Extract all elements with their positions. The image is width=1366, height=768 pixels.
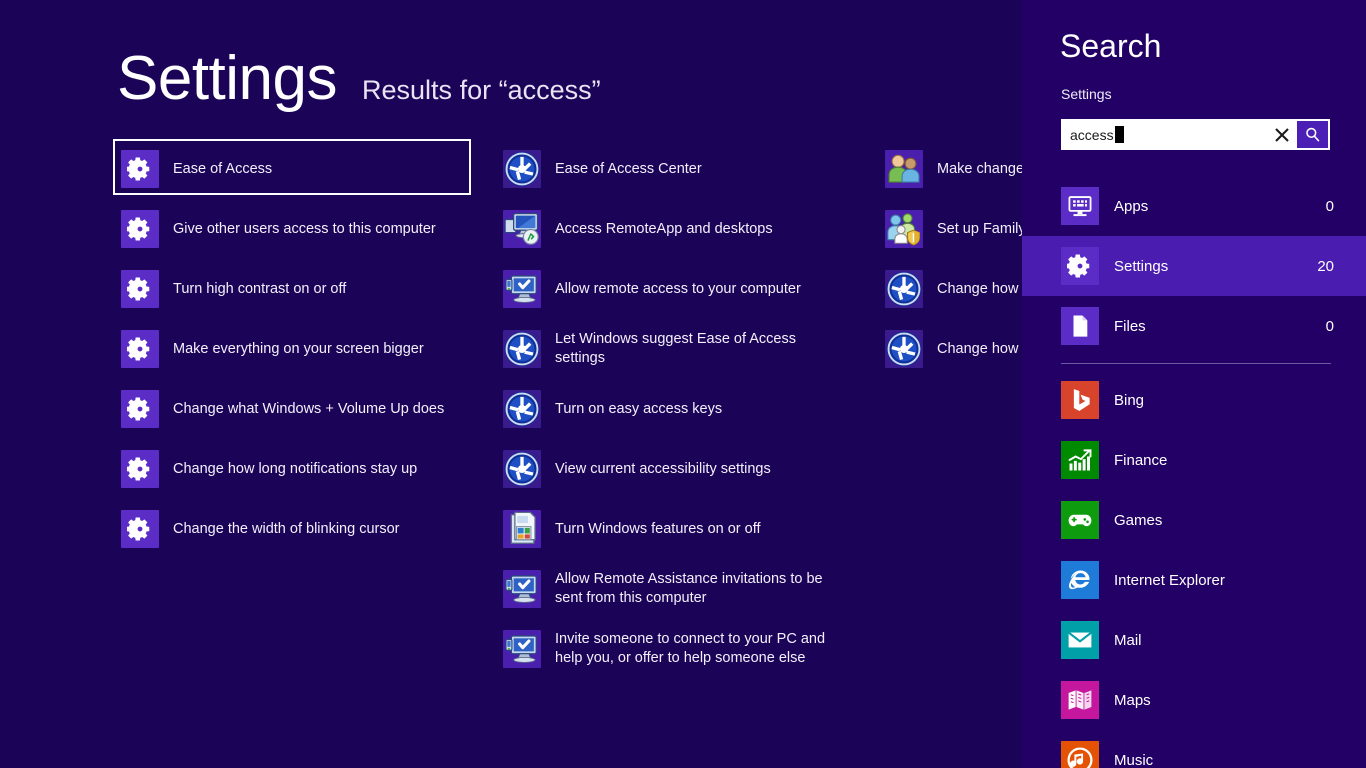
app-label: Mail (1114, 632, 1142, 649)
result-item[interactable]: View current accessibility settings (495, 439, 875, 499)
result-item-label: Let Windows suggest Ease of Access setti… (555, 330, 796, 368)
ease-of-access-wheel-icon (503, 390, 541, 428)
music-note-icon (1061, 741, 1099, 768)
settings-gear-icon (121, 270, 159, 308)
music-note-icon (1066, 746, 1094, 768)
family-safety-icon (885, 210, 923, 248)
file-document-icon (1067, 313, 1093, 339)
category-label: Settings (1114, 258, 1317, 275)
remote-desktop-icon (503, 570, 541, 608)
envelope-icon (1061, 621, 1099, 659)
category-label: Files (1114, 318, 1326, 335)
app-label: Games (1114, 512, 1162, 529)
bing-icon (1066, 386, 1094, 414)
settings-gear-icon (121, 330, 159, 368)
settings-gear-icon (121, 450, 159, 488)
app-label: Bing (1114, 392, 1144, 409)
settings-gear-icon (121, 390, 159, 428)
panel-divider (1061, 363, 1331, 364)
results-column-2: Ease of Access CenterAccess RemoteApp an… (495, 139, 875, 679)
result-item[interactable]: Ease of Access (113, 139, 493, 199)
ease-of-access-wheel-icon (885, 270, 923, 308)
result-item-label: Set up Family (937, 220, 1022, 239)
app-list-item[interactable]: Finance (1022, 430, 1366, 490)
remote-desktop-icon (503, 630, 541, 668)
result-item-label: Change how y (937, 340, 1022, 359)
bing-icon (1061, 381, 1099, 419)
settings-gear-icon (127, 156, 153, 182)
app-label: Internet Explorer (1114, 572, 1225, 589)
family-safety-icon (885, 210, 923, 248)
finance-chart-icon (1061, 441, 1099, 479)
search-panel-title: Search (1060, 30, 1161, 62)
result-item-label: View current accessibility settings (555, 460, 771, 479)
result-item[interactable]: Set up Family (877, 199, 1022, 259)
app-list-item[interactable]: Maps (1022, 670, 1366, 730)
search-input[interactable]: access (1061, 126, 1267, 143)
search-charm-panel: Search Settings access Apps0Settings20Fi… (1022, 0, 1366, 768)
results-column-3: Make changesSet up FamilyChange how yCha… (877, 139, 1022, 379)
result-item-label: Change how long notifications stay up (173, 460, 417, 479)
app-list-item[interactable]: Bing (1022, 370, 1366, 430)
search-results-area: Settings Results for “access” Ease of Ac… (0, 0, 1022, 768)
search-category-files[interactable]: Files0 (1022, 296, 1366, 356)
user-accounts-icon (885, 150, 923, 188)
remote-desktop-icon (503, 570, 541, 608)
result-item[interactable]: Allow Remote Assistance invitations to b… (495, 559, 875, 619)
settings-gear-icon (127, 336, 153, 362)
search-category-apps[interactable]: Apps0 (1022, 176, 1366, 236)
result-item[interactable]: Turn on easy access keys (495, 379, 875, 439)
search-input-value: access (1070, 127, 1114, 143)
ease-of-access-wheel-icon (503, 450, 541, 488)
settings-gear-icon (127, 516, 153, 542)
result-item[interactable]: Turn high contrast on or off (113, 259, 493, 319)
result-item[interactable]: Change what Windows + Volume Up does (113, 379, 493, 439)
settings-gear-icon (127, 216, 153, 242)
result-item[interactable]: Change the width of blinking cursor (113, 499, 493, 559)
result-item[interactable]: Change how y (877, 319, 1022, 379)
envelope-icon (1066, 626, 1094, 654)
remote-desktop-icon (503, 630, 541, 668)
settings-gear-icon (127, 456, 153, 482)
search-submit-button[interactable] (1297, 121, 1328, 148)
app-list-item[interactable]: Games (1022, 490, 1366, 550)
windows-features-icon (503, 510, 541, 548)
text-caret (1115, 126, 1124, 143)
app-label: Finance (1114, 452, 1167, 469)
windows-features-icon (503, 510, 541, 548)
result-item-label: Allow remote access to your computer (555, 280, 801, 299)
result-item[interactable]: Access RemoteApp and desktops (495, 199, 875, 259)
result-item-label: Make changes (937, 160, 1022, 179)
result-item[interactable]: Change how y (877, 259, 1022, 319)
result-item[interactable]: Allow remote access to your computer (495, 259, 875, 319)
result-item-label: Allow Remote Assistance invitations to b… (555, 570, 823, 608)
file-document-icon (1061, 307, 1099, 345)
settings-gear-icon (127, 276, 153, 302)
magnifier-icon (1304, 126, 1321, 143)
result-item-label: Turn on easy access keys (555, 400, 722, 419)
gamepad-icon (1066, 506, 1094, 534)
remote-desktop-icon (503, 270, 541, 308)
ease-of-access-wheel-icon (503, 150, 541, 188)
result-item-label: Change how y (937, 280, 1022, 299)
app-list-item[interactable]: Internet Explorer (1022, 550, 1366, 610)
result-item-label: Ease of Access (173, 160, 272, 179)
search-category-list: Apps0Settings20Files0 (1022, 176, 1366, 356)
results-header: Settings Results for “access” (117, 48, 601, 110)
ease-of-access-wheel-icon (503, 330, 541, 368)
result-item-label: Change what Windows + Volume Up does (173, 400, 444, 419)
app-label: Maps (1114, 692, 1151, 709)
ease-of-access-wheel-icon (885, 270, 923, 308)
ease-of-access-wheel-icon (503, 390, 541, 428)
settings-gear-icon (127, 396, 153, 422)
result-item-label: Ease of Access Center (555, 160, 702, 179)
apps-monitor-icon (1061, 187, 1099, 225)
user-accounts-icon (885, 150, 923, 188)
result-item-label: Access RemoteApp and desktops (555, 220, 773, 239)
app-list-item[interactable]: Mail (1022, 610, 1366, 670)
internet-explorer-icon (1066, 566, 1094, 594)
ease-of-access-wheel-icon (885, 330, 923, 368)
result-item-label: Make everything on your screen bigger (173, 340, 424, 359)
result-item[interactable]: Change how long notifications stay up (113, 439, 493, 499)
category-label: Apps (1114, 198, 1326, 215)
ease-of-access-wheel-icon (503, 150, 541, 188)
settings-gear-icon (121, 510, 159, 548)
close-x-icon[interactable] (1267, 119, 1297, 150)
result-item[interactable]: Make changes (877, 139, 1022, 199)
results-column-1: Ease of AccessGive other users access to… (113, 139, 493, 559)
result-item-label: Give other users access to this computer (173, 220, 436, 239)
remote-desktop-icon (503, 270, 541, 308)
app-label: Music (1114, 752, 1153, 768)
internet-explorer-icon (1061, 561, 1099, 599)
category-count: 0 (1326, 318, 1334, 335)
ease-of-access-wheel-icon (503, 450, 541, 488)
map-fold-icon (1061, 681, 1099, 719)
ease-of-access-wheel-icon (503, 330, 541, 368)
map-fold-icon (1066, 686, 1094, 714)
search-scope-label: Settings (1061, 86, 1112, 102)
finance-chart-icon (1066, 446, 1094, 474)
app-list-item[interactable]: Music (1022, 730, 1366, 768)
result-item[interactable]: Let Windows suggest Ease of Access setti… (495, 319, 875, 379)
result-item[interactable]: Make everything on your screen bigger (113, 319, 493, 379)
result-item-label: Turn high contrast on or off (173, 280, 346, 299)
ease-of-access-wheel-icon (885, 330, 923, 368)
gamepad-icon (1061, 501, 1099, 539)
category-count: 0 (1326, 198, 1334, 215)
result-item-label: Change the width of blinking cursor (173, 520, 400, 539)
page-title: Settings (117, 48, 337, 110)
category-count: 20 (1317, 258, 1334, 275)
result-item[interactable]: Turn Windows features on or off (495, 499, 875, 559)
result-item-label: Invite someone to connect to your PC and… (555, 630, 825, 668)
remoteapp-icon (503, 210, 541, 248)
search-box[interactable]: access (1061, 119, 1330, 150)
settings-gear-icon (121, 210, 159, 248)
search-category-settings[interactable]: Settings20 (1022, 236, 1366, 296)
settings-gear-icon (121, 150, 159, 188)
apps-monitor-icon (1067, 193, 1093, 219)
settings-gear-icon (1061, 247, 1099, 285)
results-for-label: Results for “access” (362, 75, 601, 106)
search-app-list: BingFinanceGamesInternet ExplorerMailMap… (1022, 370, 1366, 768)
result-item-label: Turn Windows features on or off (555, 520, 761, 539)
result-item[interactable]: Ease of Access Center (495, 139, 875, 199)
settings-gear-icon (1067, 253, 1093, 279)
remoteapp-icon (503, 210, 541, 248)
result-item[interactable]: Invite someone to connect to your PC and… (495, 619, 875, 679)
result-item[interactable]: Give other users access to this computer (113, 199, 493, 259)
